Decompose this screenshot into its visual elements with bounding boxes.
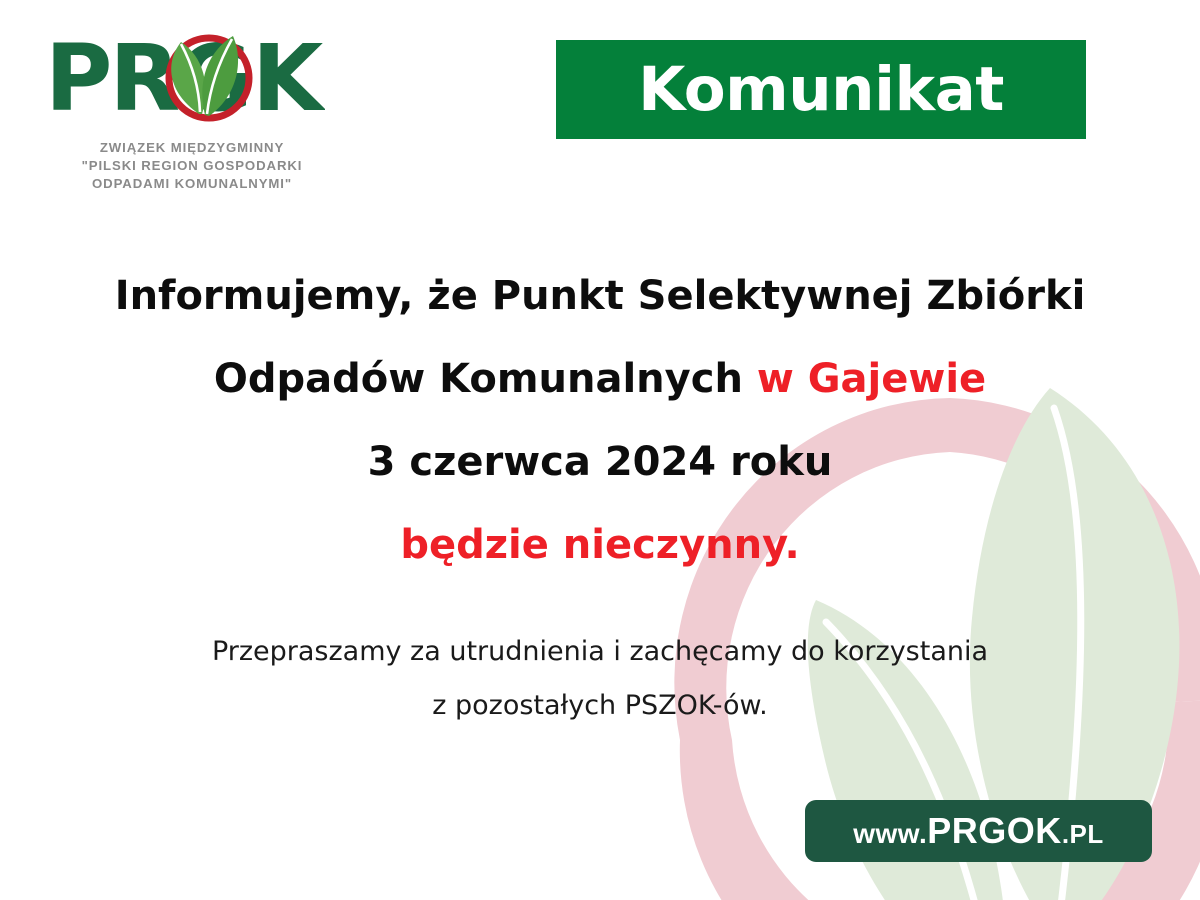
- logo-mark: PRG K: [47, 28, 325, 132]
- apology-line-1: Przepraszamy za utrudnienia i zachęcamy …: [0, 638, 1200, 665]
- logo-subtitle-line-2: "PILSKI REGION GOSPODARKI: [47, 157, 337, 175]
- komunikat-banner: Komunikat: [556, 40, 1086, 139]
- logo-subtitle: ZWIĄZEK MIĘDZYGMINNY "PILSKI REGION GOSP…: [47, 139, 337, 194]
- logo-text-k: K: [252, 28, 325, 132]
- message-line-3: 3 czerwca 2024 roku: [0, 442, 1200, 482]
- message-line-1: Informujemy, że Punkt Selektywnej Zbiórk…: [0, 276, 1200, 316]
- message-line-2: Odpadów Komunalnych w Gajewie: [0, 359, 1200, 399]
- announcement-message: Informujemy, że Punkt Selektywnej Zbiórk…: [0, 276, 1200, 565]
- banner-title: Komunikat: [638, 59, 1004, 120]
- message-line-4: będzie nieczynny.: [0, 525, 1200, 565]
- poster-canvas: PRG K ZWIĄZEK MIĘDZYGMINNY "PILSKI R: [0, 0, 1200, 900]
- logo-subtitle-line-1: ZWIĄZEK MIĘDZYGMINNY: [47, 139, 337, 157]
- apology-paragraph: Przepraszamy za utrudnienia i zachęcamy …: [0, 638, 1200, 719]
- prgok-logo: PRG K ZWIĄZEK MIĘDZYGMINNY "PILSKI R: [47, 28, 337, 194]
- message-line-2-black: Odpadów Komunalnych: [214, 356, 757, 402]
- url-prefix: www.: [853, 818, 927, 849]
- website-url-badge[interactable]: www.PRGOK.PL: [805, 800, 1152, 862]
- message-line-2-highlight: w Gajewie: [757, 356, 986, 402]
- website-url-text: www.PRGOK.PL: [853, 813, 1104, 849]
- url-tld: .PL: [1062, 819, 1104, 849]
- url-main: PRGOK: [927, 810, 1062, 851]
- apology-line-2: z pozostałych PSZOK-ów.: [0, 692, 1200, 719]
- logo-subtitle-line-3: ODPADAMI KOMUNALNYMI": [47, 175, 337, 193]
